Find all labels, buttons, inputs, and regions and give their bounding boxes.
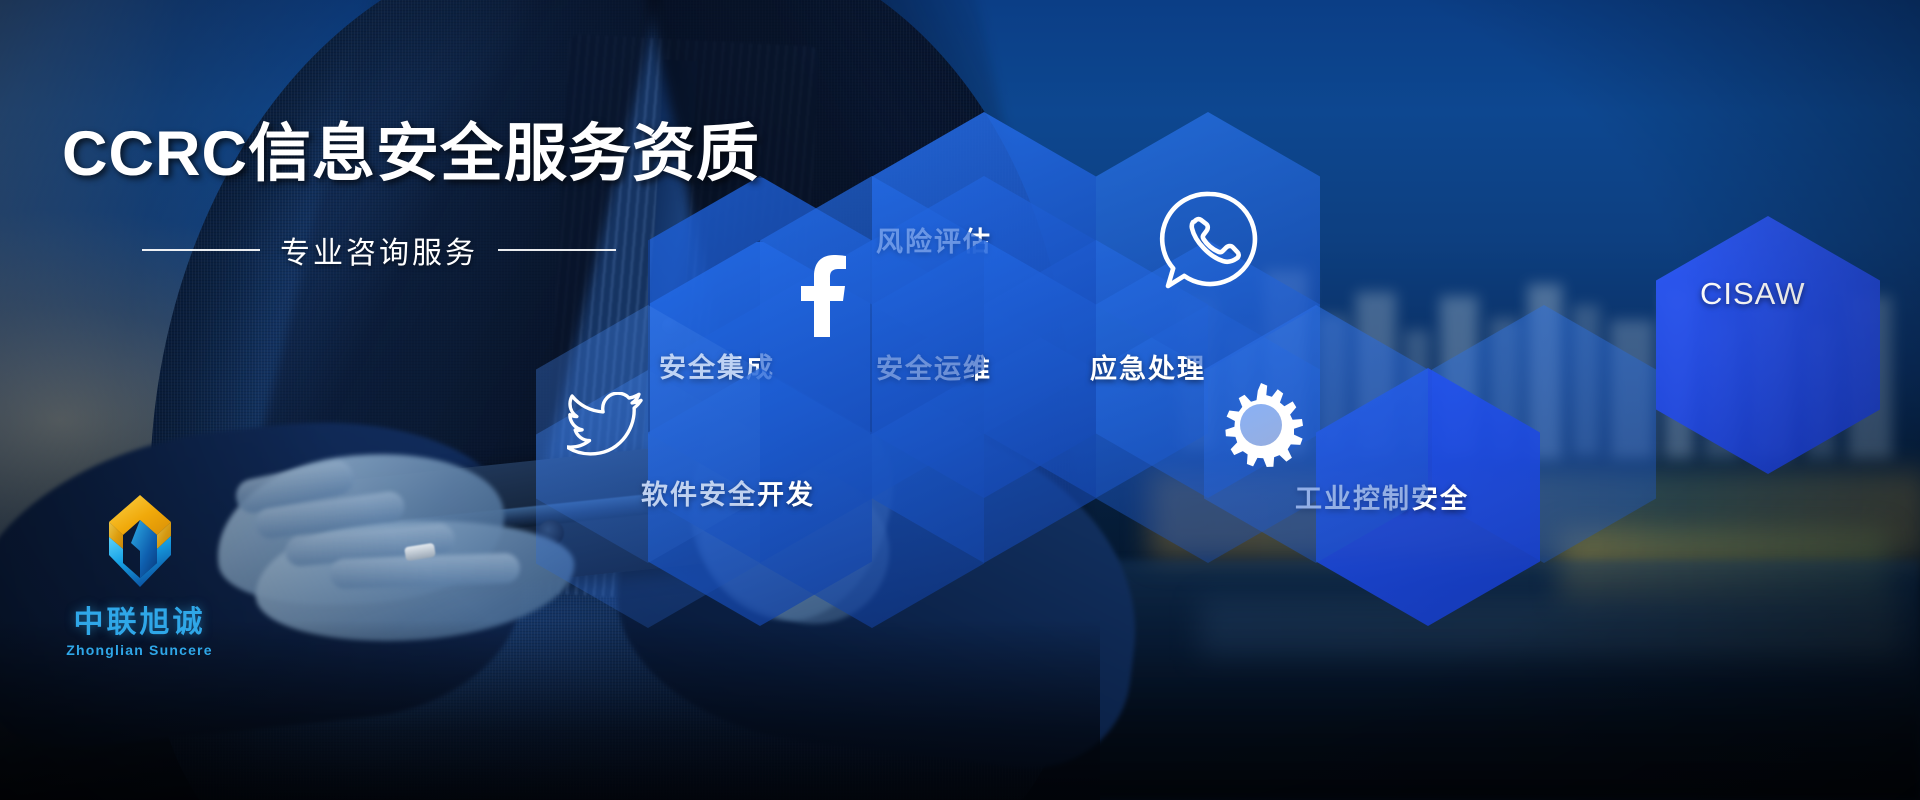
twitter-bird-icon [567,392,643,461]
phone-chat-icon [1152,186,1264,303]
subtitle-text: 专业咨询服务 [280,228,478,272]
company-logo[interactable]: 中联旭诚 Zhonglian Suncere [57,489,222,658]
logo-mark-icon [87,489,193,593]
hex-label-cisaw: CISAW [1700,276,1805,312]
facebook-icon [795,255,851,342]
subtitle-rule-left [142,249,260,251]
page-title: CCRC信息安全服务资质 [62,103,760,194]
banner-root: 安全集成 软件安全开发 风险评估 安全运维 应急处理 工业控制安全 CISAW [0,0,1920,800]
subtitle-rule-right [498,249,616,251]
logo-name-en: Zhonglian Suncere [57,642,222,658]
logo-name-cn: 中联旭诚 [57,597,222,641]
gear-icon-hole [1240,404,1282,446]
hex-cisaw[interactable] [1656,216,1880,474]
subtitle-row: 专业咨询服务 [142,228,616,272]
